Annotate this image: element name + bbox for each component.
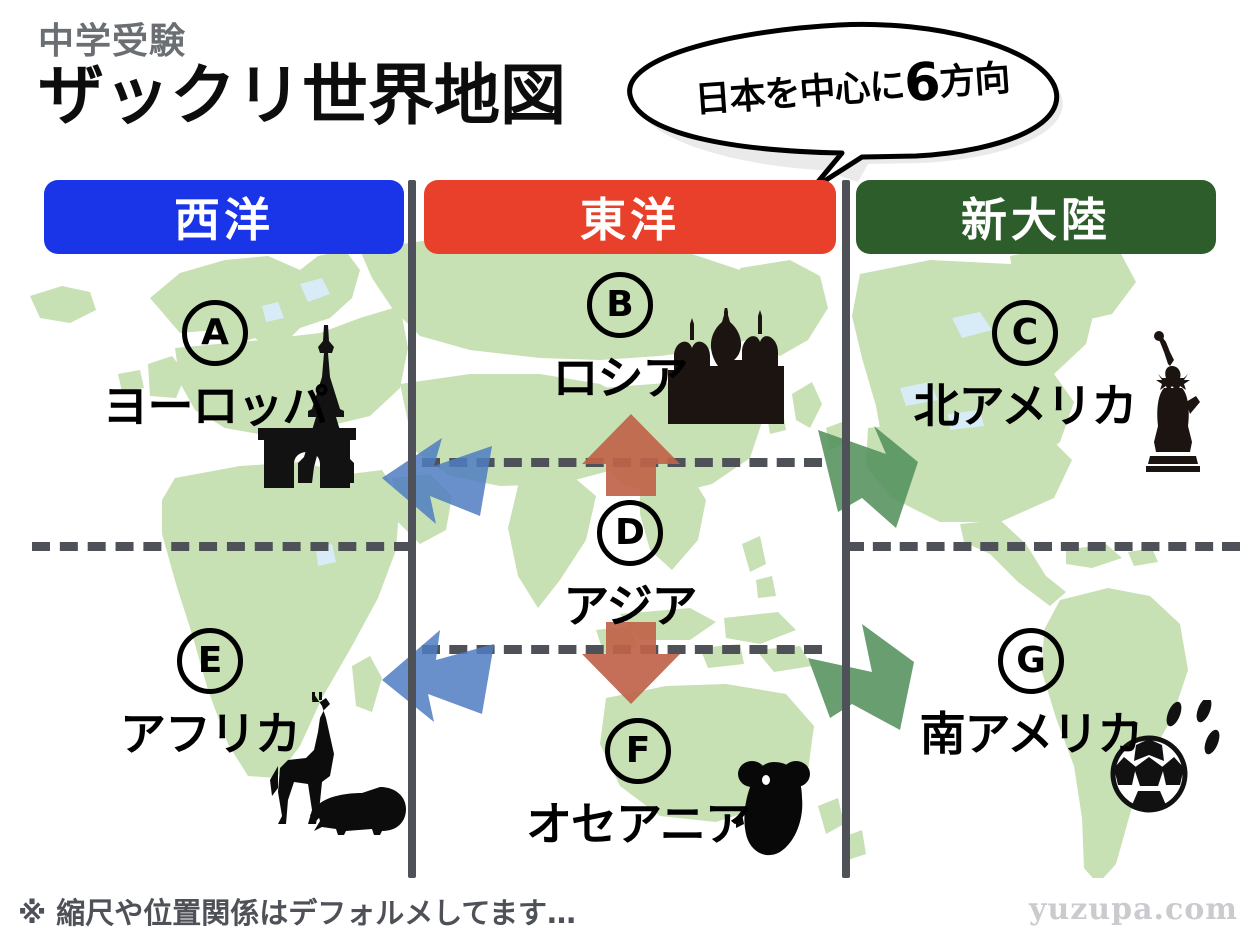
callout-number: 6 — [902, 52, 941, 114]
column-banner-east-label: 東洋 — [580, 184, 680, 250]
region-label-d[interactable]: D アジア — [520, 500, 740, 636]
column-divider-right — [842, 180, 850, 878]
region-name-a: ヨーロッパ — [90, 370, 340, 436]
region-key-e: E — [177, 628, 243, 694]
arrow-west-lower — [368, 602, 508, 732]
column-banner-newcontinent[interactable]: 新大陸 — [856, 180, 1216, 254]
region-label-f[interactable]: F オセアニア — [500, 718, 776, 854]
title-heading: ザックリ世界地図 — [38, 62, 566, 131]
title-subheading: 中学受験 — [38, 24, 566, 60]
region-label-b[interactable]: B ロシア — [510, 272, 730, 408]
column-divider-left — [408, 180, 416, 878]
column-banner-newcontinent-label: 新大陸 — [961, 184, 1111, 250]
region-label-g[interactable]: G 南アメリカ — [906, 628, 1156, 764]
region-name-c: 北アメリカ — [900, 370, 1150, 436]
callout-bubble: 日本を中心に6方向 — [612, 18, 1082, 178]
dashed-line-newcontinent — [846, 542, 1240, 551]
brand-watermark: yuzupa.com — [1029, 892, 1238, 927]
lion-icon — [310, 785, 416, 837]
page-title: 中学受験 ザックリ世界地図 — [38, 24, 566, 131]
region-label-e[interactable]: E アフリカ — [100, 628, 320, 764]
motion-lines-icon — [1160, 700, 1230, 762]
region-name-b: ロシア — [510, 342, 730, 408]
region-key-b: B — [587, 272, 653, 338]
region-key-f: F — [605, 718, 671, 784]
region-label-a[interactable]: A ヨーロッパ — [90, 300, 340, 436]
column-banner-west-label: 西洋 — [174, 184, 274, 250]
infographic-canvas: 中学受験 ザックリ世界地図 日本を中心に6方向 — [0, 0, 1260, 945]
dashed-line-west — [32, 542, 412, 551]
callout-prefix: 日本を中心に — [693, 65, 905, 121]
region-label-c[interactable]: C 北アメリカ — [900, 300, 1150, 436]
region-name-f: オセアニア — [500, 788, 776, 854]
region-key-c: C — [992, 300, 1058, 366]
region-key-g: G — [998, 628, 1064, 694]
region-name-e: アフリカ — [100, 698, 320, 764]
callout-suffix: 方向 — [938, 58, 1011, 104]
region-name-d: アジア — [520, 570, 740, 636]
column-banner-west[interactable]: 西洋 — [44, 180, 404, 254]
column-banner-east[interactable]: 東洋 — [424, 180, 836, 254]
region-key-a: A — [182, 300, 248, 366]
region-name-g: 南アメリカ — [906, 698, 1156, 764]
region-key-d: D — [597, 500, 663, 566]
footnote-text: ※ 縮尺や位置関係はデフォルメしてます… — [18, 890, 576, 932]
arrow-west-upper — [368, 412, 508, 542]
